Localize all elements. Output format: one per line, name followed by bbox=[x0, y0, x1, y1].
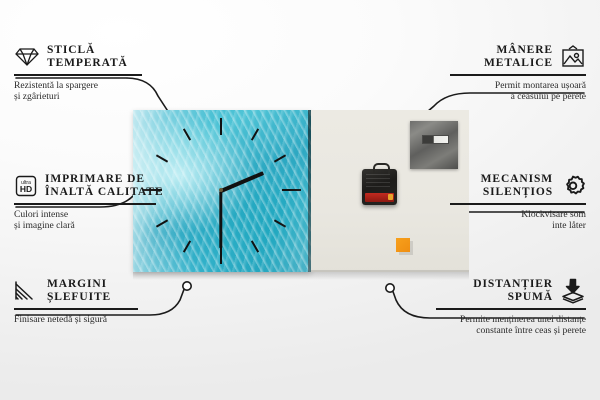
metal-hanger-plate bbox=[410, 121, 458, 169]
feature-head: DISTANȚIER SPUMĂ bbox=[422, 278, 586, 304]
feature-rule bbox=[14, 74, 142, 76]
feature-rule bbox=[436, 308, 586, 310]
feature-rule bbox=[14, 308, 138, 310]
gear-icon bbox=[560, 174, 586, 198]
product-photo bbox=[133, 110, 469, 280]
mechanism-texture bbox=[366, 174, 390, 188]
clock-tick bbox=[220, 247, 222, 264]
feature-title: DISTANȚIER SPUMĂ bbox=[473, 278, 553, 304]
feature-subtitle: Culori intense și imagine clară bbox=[14, 209, 174, 232]
feature-rule bbox=[14, 203, 156, 205]
foam-spacer-pad bbox=[396, 238, 410, 252]
clock-tick bbox=[251, 128, 259, 140]
clock-hour-hand bbox=[220, 171, 264, 193]
feature-subtitle: Permit montarea ușoară a ceasului pe per… bbox=[436, 80, 586, 103]
diamond-icon bbox=[14, 47, 40, 67]
feature-title: MÂNERE METALICE bbox=[484, 44, 553, 70]
feature-subtitle: Permite menținerea unei distanțe constan… bbox=[422, 314, 586, 337]
hanger-slot bbox=[422, 135, 449, 144]
wire-dot-foam-spacer bbox=[386, 284, 394, 292]
clock-tick bbox=[183, 240, 191, 252]
clock-tick bbox=[282, 189, 301, 191]
feature-title: IMPRIMARE DE ÎNALTĂ CALITATE bbox=[45, 173, 163, 199]
feature-foam-spacer: DISTANȚIER SPUMĂ Permite menținerea unei… bbox=[422, 278, 586, 337]
clock-tick bbox=[274, 219, 286, 227]
feature-title: MECANISM SILENȚIOS bbox=[481, 173, 553, 199]
feature-subtitle: Klockvisare som inte låter bbox=[436, 209, 586, 232]
arrow-down-pad-icon bbox=[560, 278, 586, 304]
feature-head: MECANISM SILENȚIOS bbox=[436, 173, 586, 199]
feature-title: STICLĂ TEMPERATĂ bbox=[47, 44, 128, 70]
clock-minute-hand bbox=[220, 191, 223, 248]
clock-pivot bbox=[219, 188, 223, 192]
feature-head: ultra HD IMPRIMARE DE ÎNALTĂ CALITATE bbox=[14, 173, 174, 199]
feature-title: MARGINI ȘLEFUITE bbox=[47, 278, 111, 304]
svg-text:HD: HD bbox=[20, 184, 32, 194]
diagonal-lines-icon bbox=[14, 280, 40, 302]
mechanism-battery bbox=[365, 193, 394, 202]
wire-dot-polished-edges bbox=[183, 282, 191, 290]
clock-tick bbox=[183, 128, 191, 140]
feature-silent-mechanism: MECANISM SILENȚIOS Klockvisare som inte … bbox=[436, 173, 586, 232]
feature-head: MARGINI ȘLEFUITE bbox=[14, 278, 164, 304]
feature-tempered-glass: STICLĂ TEMPERATĂ Rezistentă la spargere … bbox=[14, 44, 164, 103]
feature-head: MÂNERE METALICE bbox=[436, 44, 586, 70]
feature-rule bbox=[450, 74, 586, 76]
feature-head: STICLĂ TEMPERATĂ bbox=[14, 44, 164, 70]
feature-metal-handles: MÂNERE METALICE Permit montarea ușoară a… bbox=[436, 44, 586, 103]
clock-tick bbox=[251, 240, 259, 252]
feature-rule bbox=[450, 203, 586, 205]
picture-frame-hook-icon bbox=[560, 45, 586, 69]
ultra-hd-badge-icon: ultra HD bbox=[14, 175, 38, 197]
clock-tick bbox=[274, 154, 286, 162]
feature-subtitle: Finisare netedă și sigură bbox=[14, 314, 164, 326]
infographic-canvas: STICLĂ TEMPERATĂ Rezistentă la spargere … bbox=[0, 0, 600, 400]
clock-tick bbox=[156, 154, 168, 162]
clock-mechanism bbox=[362, 169, 397, 205]
feature-subtitle: Rezistentă la spargere și zgârieturi bbox=[14, 80, 164, 103]
feature-high-quality-print: ultra HD IMPRIMARE DE ÎNALTĂ CALITATE Cu… bbox=[14, 173, 174, 232]
clock-tick bbox=[220, 118, 222, 135]
feature-polished-edges: MARGINI ȘLEFUITE Finisare netedă și sigu… bbox=[14, 278, 164, 325]
mechanism-loop bbox=[373, 163, 390, 174]
